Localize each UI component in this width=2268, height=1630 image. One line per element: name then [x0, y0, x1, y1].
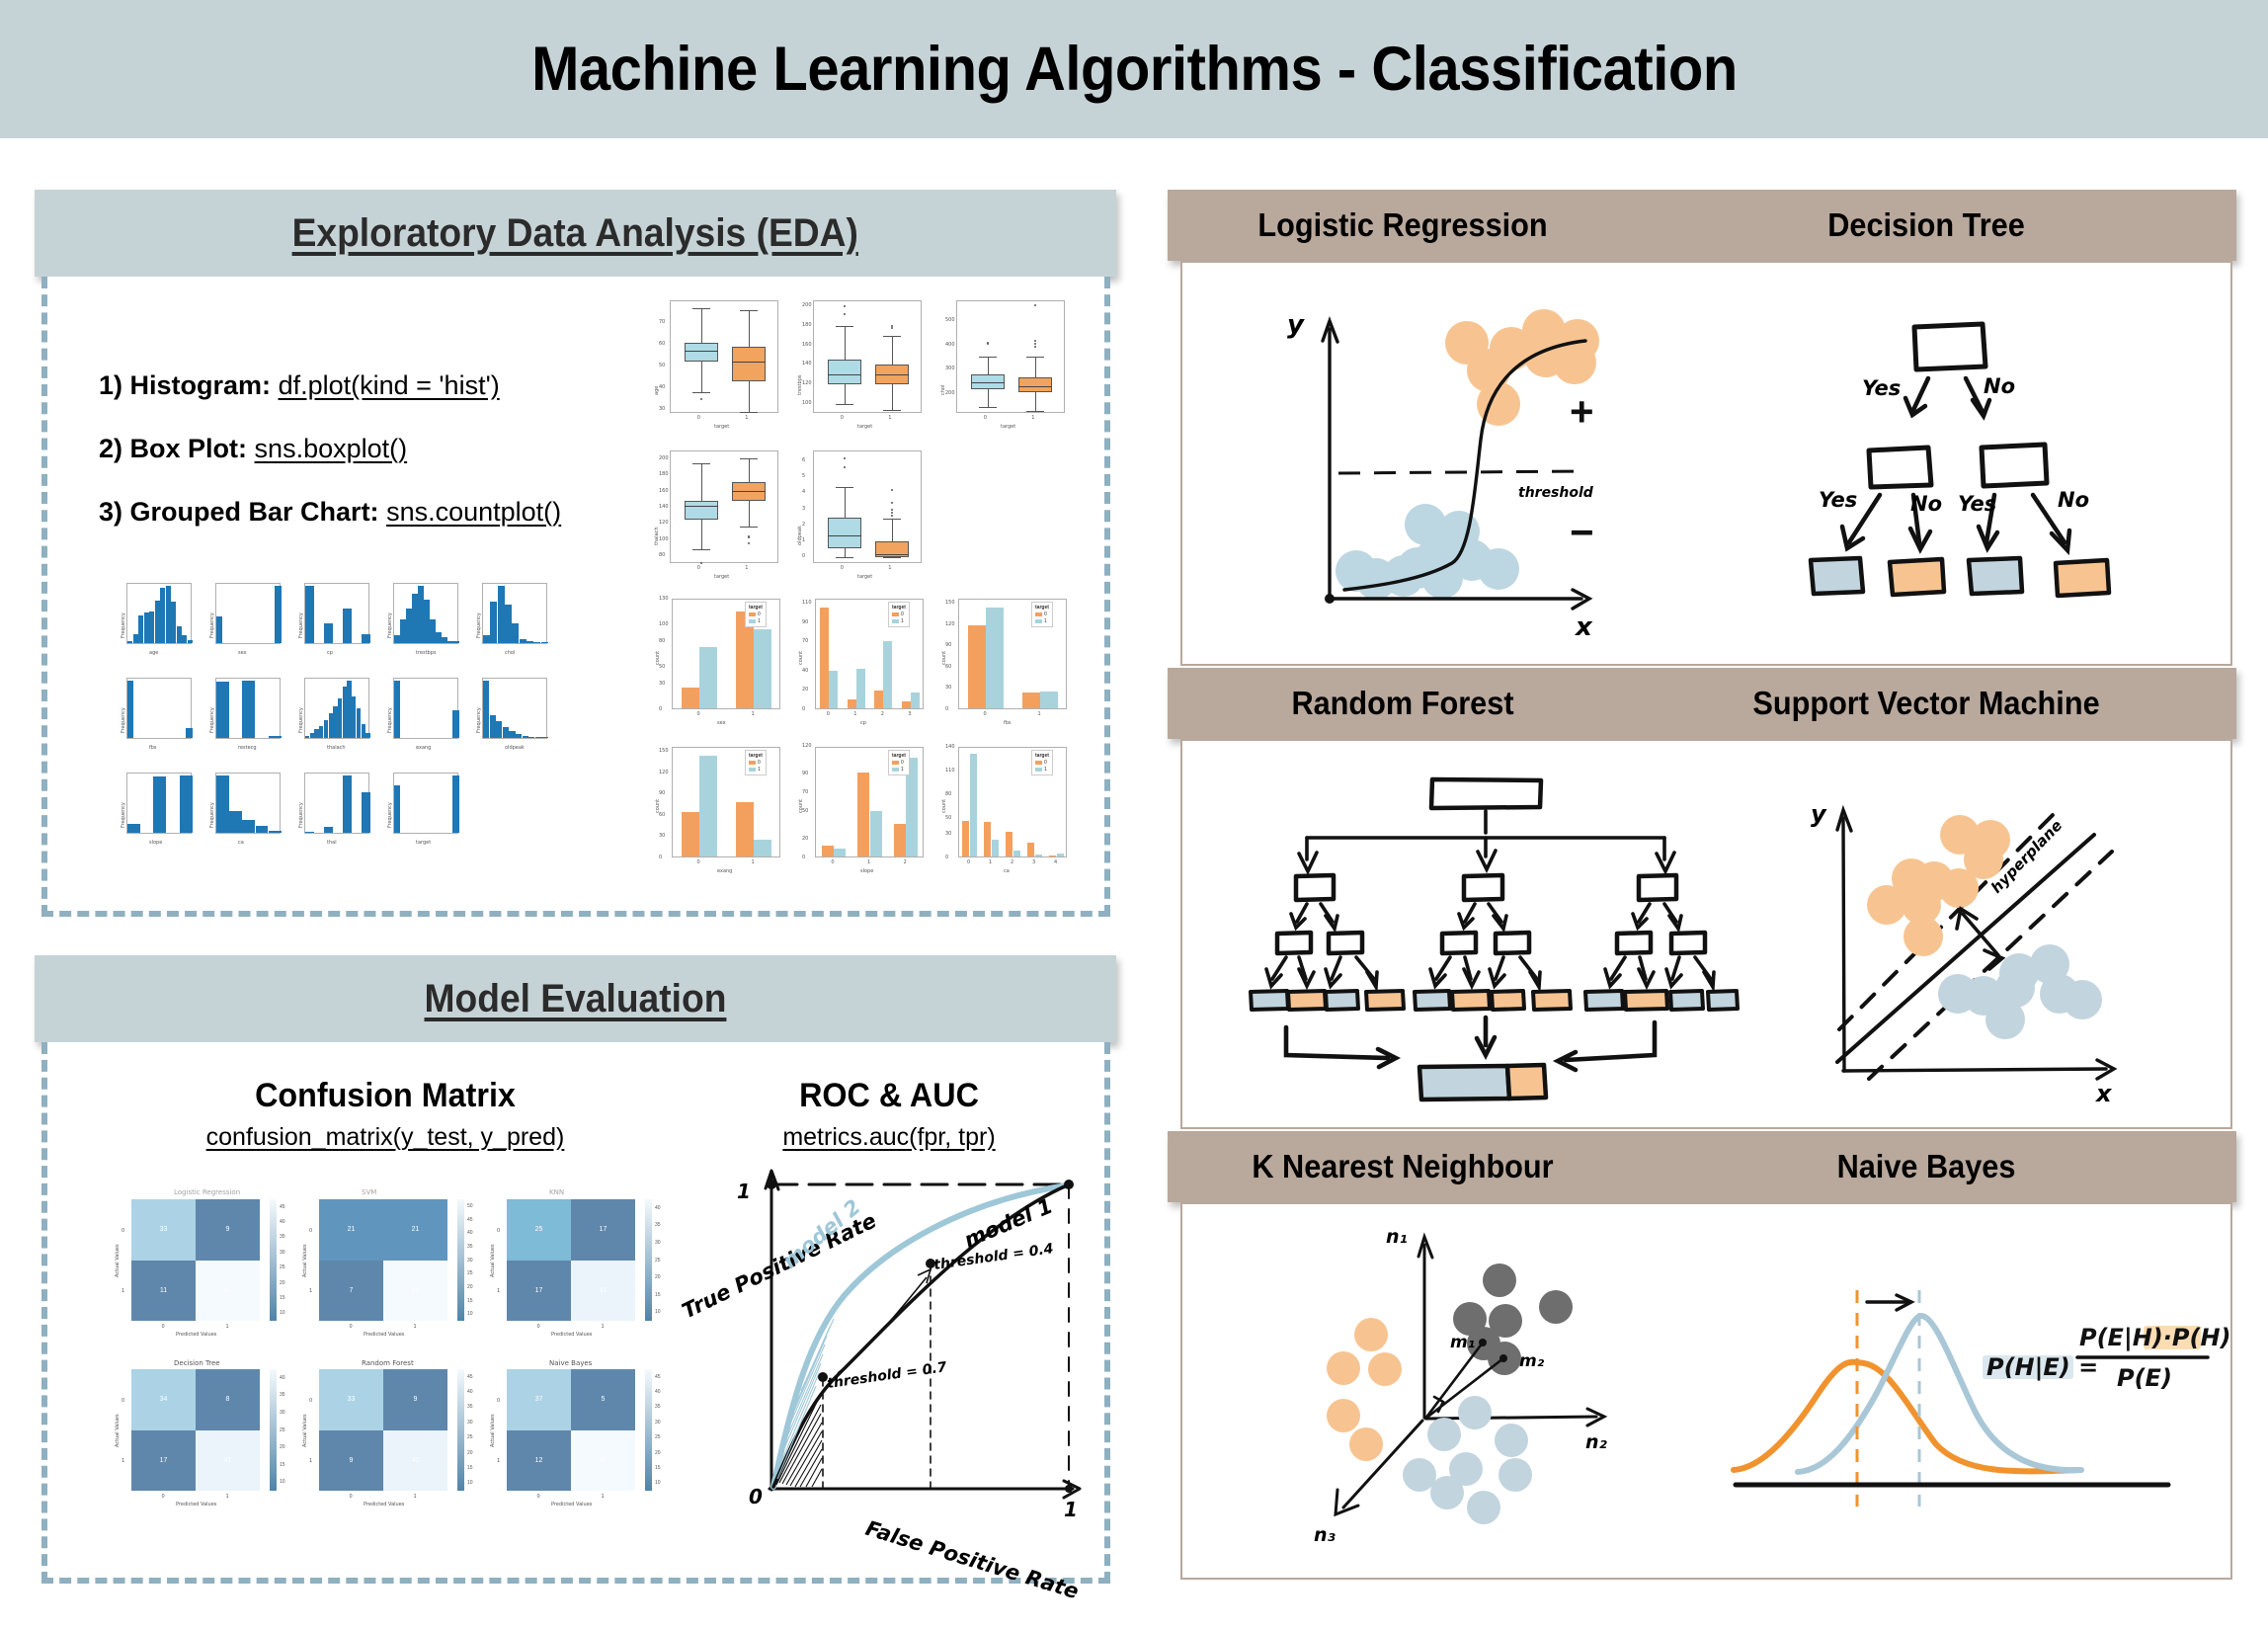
histogram-bar: [310, 733, 314, 738]
boxplot-box: [732, 347, 766, 381]
nb-formula-denominator: P(E): [2117, 1364, 2172, 1392]
confusion-matrix-title: Confusion Matrix: [141, 1077, 629, 1115]
histogram-bar: [160, 588, 165, 643]
eda-item-num: 1): [99, 370, 122, 400]
tree-leaf-3: [1969, 558, 2022, 594]
histogram-bar: [324, 827, 333, 833]
axis-xlabel: ca: [238, 840, 244, 846]
histogram-bar: [520, 639, 526, 644]
countplot-bar: [822, 846, 834, 856]
countplot-bar: [1006, 832, 1012, 856]
axis-ylabel: Frequency: [209, 707, 215, 733]
countplot-bar: [754, 629, 771, 708]
histogram-bar: [523, 736, 528, 738]
countplot-bar: [1057, 854, 1064, 856]
confusion-matrix-title-block: Confusion Matrix confusion_matrix(y_test…: [128, 1077, 642, 1152]
countplot-bar: [970, 754, 977, 856]
roc-auc-code: metrics.auc(fpr, tpr): [682, 1123, 1096, 1152]
axis-ylabel: count: [941, 799, 947, 813]
matrix-cell: 33: [319, 1369, 383, 1430]
histogram-bar: [188, 640, 193, 643]
countplot-bar: [848, 699, 856, 708]
histogram-bar: [528, 737, 534, 738]
axis-xlabel: thal: [327, 840, 337, 846]
boxplot-panel: [956, 300, 1065, 413]
colorbar: [270, 1199, 277, 1321]
histogram-bar: [490, 715, 496, 738]
matrix-cell: 9: [383, 1369, 447, 1430]
histogram-bar: [182, 635, 187, 643]
matrix-cell: 11: [131, 1261, 196, 1322]
histogram-panel: [215, 678, 281, 739]
countplot-bar: [856, 669, 865, 708]
histogram-bar: [269, 831, 282, 833]
histogram-bar: [418, 586, 424, 643]
axis-xlabel: age: [149, 650, 158, 656]
histogram-bar: [452, 775, 458, 833]
histogram-panel: [304, 583, 369, 644]
histogram-panel: [482, 678, 547, 739]
histogram-bar: [171, 602, 176, 643]
confusion-matrix-code: confusion_matrix(y_test, y_pred): [128, 1123, 642, 1152]
list-item: 2) Box Plot: sns.boxplot(): [99, 434, 652, 464]
algorithm-title-svm: Support Vector Machine: [1753, 685, 2100, 722]
svm-x-axis-label: x: [2095, 1080, 2113, 1107]
confusion-matrix: 339940: [319, 1369, 447, 1491]
matrix-cell: 37: [507, 1369, 571, 1430]
axis-ylabel: count: [798, 651, 804, 665]
tree-leaf-2: [1890, 559, 1944, 595]
histogram-bar: [305, 586, 314, 643]
colorbar: [457, 1199, 464, 1321]
histogram-bar: [509, 731, 515, 738]
axis-xlabel: Predicted Values: [364, 1502, 404, 1508]
matrix-cell: 21: [319, 1199, 383, 1261]
histogram-bar: [347, 681, 351, 738]
histogram-bar: [256, 826, 269, 833]
countplot-bar: [968, 625, 986, 708]
algorithms-row3-header: K Nearest Neighbour Naive Bayes: [1168, 1131, 2236, 1202]
histogram-bar: [357, 708, 361, 738]
histogram-bar: [490, 602, 497, 643]
axis-xlabel: cp: [327, 650, 333, 656]
algorithm-title-naive-bayes: Naive Bayes: [1837, 1148, 2016, 1185]
axis-xlabel: exang: [717, 868, 732, 874]
histogram-bar: [496, 721, 502, 738]
countplot-bar: [986, 608, 1004, 708]
roc-auc-title: ROC & AUC: [692, 1077, 1087, 1115]
boxplot-box: [685, 501, 718, 520]
histogram-bar: [229, 811, 242, 833]
histogram-bar: [166, 586, 171, 643]
rf-final-vote-blue: [1419, 1066, 1509, 1100]
histogram-panel: [393, 583, 458, 644]
axis-xlabel: cp: [860, 720, 866, 726]
logreg-y-axis-label: y: [1287, 310, 1305, 340]
histogram-panel: [482, 583, 547, 644]
boxplot-panel: [813, 450, 922, 563]
eda-item-label: Grouped Bar Chart:: [130, 497, 379, 527]
axis-ylabel: Frequency: [298, 802, 304, 828]
eda-item-code: sns.countplot(): [386, 497, 561, 527]
axis-ylabel: Frequency: [298, 612, 304, 638]
matrix-title: Naive Bayes: [549, 1359, 592, 1367]
model-evaluation-label: Model Evaluation: [425, 977, 727, 1021]
histogram-bar: [138, 615, 143, 643]
axis-xlabel: thalach: [327, 745, 346, 751]
axis-ylabel: Frequency: [387, 802, 393, 828]
matrix-cell: 7: [319, 1261, 383, 1322]
roc-x-one-label: 1: [1064, 1498, 1078, 1521]
logreg-threshold-label: threshold: [1518, 485, 1594, 501]
knn-axis-n2-label: n₂: [1585, 1431, 1608, 1453]
histogram-bar: [352, 696, 356, 738]
roc-xlabel: False Positive Rate: [863, 1516, 1082, 1603]
axis-xlabel: target: [714, 574, 729, 580]
axis-xlabel: chol: [505, 650, 515, 656]
axis-ylabel: Actual Values: [115, 1244, 121, 1277]
axis-xlabel: restecg: [238, 745, 257, 751]
boxplot-box: [1018, 377, 1052, 392]
roc-y-one-label: 1: [737, 1180, 751, 1203]
poster-root: Machine Learning Algorithms - Classifica…: [0, 0, 2268, 1630]
eda-histogram-grid: ageFrequencysexFrequencycpFrequencytrest…: [111, 579, 555, 863]
nb-formula-numerator: P(E|H)·P(H): [2079, 1324, 2231, 1351]
logreg-negative-sign: −: [1570, 509, 1594, 555]
matrix-cell: 21: [383, 1199, 447, 1261]
axis-xlabel: Predicted Values: [364, 1332, 404, 1338]
countplot-bar: [1035, 855, 1042, 856]
histogram-bar: [505, 605, 512, 643]
histogram-bar: [526, 641, 533, 643]
histogram-bar: [483, 681, 489, 738]
colorbar: [270, 1369, 277, 1491]
eda-item-label: Box Plot:: [130, 434, 248, 463]
axis-xlabel: target: [714, 424, 729, 430]
knn-axis-n3-label: n₃: [1314, 1524, 1336, 1546]
matrix-title: Logistic Regression: [174, 1188, 240, 1196]
histogram-bar: [412, 594, 418, 643]
axis-ylabel: Frequency: [476, 612, 482, 638]
svm-sketch: y x hyperplane: [1778, 761, 2213, 1116]
countplot-bar: [736, 802, 754, 856]
histogram-bar: [127, 641, 132, 643]
axis-xlabel: exang: [416, 745, 431, 751]
axis-xlabel: Predicted Values: [176, 1332, 216, 1338]
histogram-bar: [333, 706, 337, 738]
tree-edge-no-3: No: [2058, 488, 2089, 512]
histogram-bar: [329, 713, 333, 738]
axis-xlabel: target: [1001, 424, 1015, 430]
matrix-cell: 33: [131, 1199, 196, 1261]
countplot-bar: [699, 756, 717, 856]
histogram-bar: [343, 609, 352, 643]
axis-ylabel: Frequency: [387, 612, 393, 638]
countplot-bar: [883, 641, 892, 708]
histogram-bar: [242, 820, 255, 833]
matrix-cell: 17: [507, 1261, 571, 1322]
histogram-panel: [304, 678, 369, 739]
histogram-bar: [406, 609, 412, 643]
knn-axis-n1-label: n₁: [1386, 1226, 1408, 1248]
countplot-bar: [699, 647, 717, 708]
histogram-bar: [483, 635, 490, 643]
axis-ylabel: Actual Values: [490, 1414, 496, 1447]
legend: target01: [1031, 602, 1053, 627]
confusion-matrix: 3481741: [131, 1369, 260, 1491]
histogram-bar: [394, 635, 400, 643]
histogram-bar: [177, 626, 182, 643]
matrix-cell: 41: [196, 1430, 260, 1492]
svm-y-axis-label: y: [1811, 800, 1827, 828]
matrix-cell: 46: [571, 1430, 635, 1492]
countplot-bar: [1013, 851, 1020, 856]
histogram-bar: [362, 634, 370, 643]
countplot-bar: [962, 821, 969, 856]
axis-ylabel: Frequency: [387, 707, 393, 733]
histogram-bar: [133, 634, 138, 643]
countplot-bar: [754, 840, 771, 856]
histogram-bar: [127, 681, 133, 738]
axis-xlabel: sex: [717, 720, 726, 726]
histogram-bar: [452, 710, 458, 738]
axis-ylabel: Frequency: [121, 612, 126, 638]
legend: target01: [745, 602, 767, 627]
eda-item-num: 3): [99, 497, 122, 527]
legend: target01: [888, 602, 910, 627]
eda-boxplot-grid: target01age3040506070target01trestbps100…: [644, 296, 1069, 593]
axis-ylabel: Actual Values: [302, 1414, 308, 1447]
logistic-regression-sketch: y x threshold + −: [1230, 291, 1645, 657]
algorithm-title-knn: K Nearest Neighbour: [1252, 1148, 1553, 1185]
model-evaluation-header: Model Evaluation: [35, 955, 1116, 1042]
eda-item-code: df.plot(kind = 'hist'): [279, 370, 500, 400]
histogram-bar: [269, 736, 282, 738]
eda-item-code: sns.boxplot(): [255, 434, 408, 463]
algorithm-title-decision-tree: Decision Tree: [1827, 206, 2025, 244]
roc-threshold-04-label: threshold = 0.4: [932, 1241, 1054, 1273]
algorithm-title-logistic-regression: Logistic Regression: [1257, 206, 1547, 244]
rf-final-vote-orange: [1507, 1065, 1546, 1099]
boxplot-panel: [670, 300, 778, 413]
axis-xlabel: fbs: [1004, 720, 1012, 726]
countplot-bar: [911, 693, 920, 708]
histogram-panel: [393, 773, 458, 834]
histogram-bar: [216, 775, 229, 833]
logreg-positive-sign: +: [1570, 388, 1594, 435]
matrix-cell: 41: [571, 1261, 635, 1322]
axis-ylabel: Frequency: [121, 707, 126, 733]
histogram-panel: [126, 583, 192, 644]
matrix-title: SVM: [362, 1188, 376, 1196]
histogram-bar: [447, 641, 453, 643]
countplot-bar: [1022, 693, 1040, 708]
histogram-bar: [362, 792, 370, 833]
histogram-panel: [126, 678, 192, 739]
axis-xlabel: oldpeak: [505, 745, 525, 751]
matrix-cell: 25: [507, 1199, 571, 1261]
histogram-bar: [516, 734, 522, 738]
matrix-cell: 51: [383, 1261, 447, 1322]
histogram-bar: [394, 681, 400, 738]
axis-xlabel: slope: [149, 840, 162, 846]
poster-title-banner: Machine Learning Algorithms - Classifica…: [0, 0, 2268, 138]
histogram-bar: [242, 681, 255, 738]
histogram-bar: [436, 632, 442, 643]
eda-method-list: 1) Histogram: df.plot(kind = 'hist') 2) …: [99, 370, 652, 560]
histogram-bar: [365, 733, 369, 738]
legend: target01: [745, 750, 767, 775]
tree-edge-no-2: No: [1910, 492, 1942, 516]
matrix-cell: 40: [383, 1430, 447, 1492]
axis-ylabel: Frequency: [121, 802, 126, 828]
countplot-bar: [894, 824, 906, 856]
list-item: 1) Histogram: df.plot(kind = 'hist'): [99, 370, 652, 401]
countplot-bar: [992, 840, 999, 856]
countplot-bar: [1049, 856, 1056, 856]
eda-section-header: Exploratory Data Analysis (EDA): [35, 190, 1116, 277]
algorithms-row1-header: Logistic Regression Decision Tree: [1168, 190, 2236, 261]
axis-xlabel: sex: [238, 650, 247, 656]
axis-ylabel: Actual Values: [115, 1414, 121, 1447]
axis-xlabel: target: [857, 424, 872, 430]
histogram-bar: [305, 832, 314, 833]
histogram-bar: [155, 601, 160, 643]
histogram-bar: [503, 727, 509, 738]
histogram-bar: [430, 619, 436, 643]
boxplot-box: [828, 518, 861, 548]
boxplot-panel: [813, 300, 922, 413]
confusion-matrix: 3751246: [507, 1369, 635, 1491]
histogram-bar: [442, 637, 447, 643]
roc-threshold-07-label: threshold = 0.7: [826, 1359, 947, 1392]
logreg-x-axis-label: x: [1574, 612, 1593, 642]
matrix-cell: 12: [507, 1430, 571, 1492]
histogram-bar: [275, 586, 281, 643]
histogram-bar: [362, 724, 365, 738]
histogram-panel: [304, 773, 369, 834]
eda-header-label: Exploratory Data Analysis (EDA): [292, 211, 858, 256]
histogram-bar: [343, 775, 352, 833]
histogram-bar: [153, 776, 166, 833]
roc-origin-label: 0: [749, 1485, 763, 1508]
countplot-bar: [984, 822, 991, 856]
confusion-matrix: 2121751: [319, 1199, 447, 1321]
algorithms-row2-header: Random Forest Support Vector Machine: [1168, 668, 2236, 739]
countplot-bar: [1040, 692, 1058, 708]
matrix-title: Random Forest: [362, 1359, 414, 1367]
confusion-matrix: 3391147: [131, 1199, 260, 1321]
histogram-bar: [324, 720, 328, 738]
histogram-bar: [319, 726, 323, 738]
tree-edge-yes-3: Yes: [1958, 492, 1996, 516]
histogram-bar: [512, 623, 519, 643]
axis-ylabel: Actual Values: [302, 1244, 308, 1277]
axis-xlabel: fbs: [149, 745, 157, 751]
countplot-bar: [682, 688, 699, 708]
histogram-bar: [216, 616, 222, 643]
matrix-cell: 9: [196, 1199, 260, 1261]
histogram-bar: [541, 737, 547, 738]
axis-xlabel: Predicted Values: [551, 1332, 592, 1338]
list-item: 3) Grouped Bar Chart: sns.countplot(): [99, 497, 652, 528]
histogram-bar: [338, 698, 342, 738]
page-title: Machine Learning Algorithms - Classifica…: [531, 34, 1738, 105]
histogram-bar: [453, 641, 459, 643]
countplot-bar: [834, 849, 846, 856]
axis-xlabel: trestbps: [416, 650, 437, 656]
matrix-cell: 5: [571, 1369, 635, 1430]
colorbar: [457, 1369, 464, 1491]
rf-root-node: [1431, 779, 1541, 808]
matrix-cell: 9: [319, 1430, 383, 1492]
histogram-bar: [216, 682, 229, 738]
random-forest-sketch: [1230, 766, 1743, 1131]
histogram-bar: [305, 736, 309, 738]
eda-countplot-grid: 01sexcount0305080100130target010123cpcou…: [644, 595, 1069, 889]
algorithm-title-random-forest: Random Forest: [1291, 685, 1513, 722]
histogram-bar: [343, 687, 347, 738]
axis-ylabel: Frequency: [209, 612, 215, 638]
knn-point-m2-label: m₂: [1519, 1351, 1545, 1371]
histogram-bar: [314, 729, 318, 738]
histogram-bar: [498, 586, 505, 643]
histogram-bar: [541, 642, 548, 643]
histogram-bar: [324, 623, 333, 643]
histogram-bar: [394, 785, 400, 834]
countplot-bar: [820, 608, 829, 708]
histogram-bar: [144, 612, 149, 643]
matrix-cell: 34: [131, 1369, 196, 1430]
axis-ylabel: Frequency: [298, 707, 304, 733]
confusion-matrix-grid: 339114710152025303540450101Actual Values…: [104, 1185, 657, 1521]
histogram-panel: [126, 773, 192, 834]
axis-xlabel: ca: [1004, 868, 1010, 874]
matrix-cell: 8: [196, 1369, 260, 1430]
matrix-title: Decision Tree: [174, 1359, 220, 1367]
histogram-bar: [533, 642, 540, 643]
countplot-bar: [829, 671, 838, 708]
axis-ylabel: Actual Values: [490, 1244, 496, 1277]
naive-bayes-sketch: P(H|E) = P(E|H)·P(H) P(E): [1724, 1235, 2227, 1531]
tree-edge-no-1: No: [1984, 374, 2015, 398]
tree-edge-yes-1: Yes: [1862, 376, 1901, 400]
boxplot-box: [685, 343, 718, 363]
histogram-panel: [393, 678, 458, 739]
decision-tree-sketch: Yes No Yes No Yes No: [1778, 291, 2193, 657]
axis-xlabel: Predicted Values: [551, 1502, 592, 1508]
matrix-title: KNN: [549, 1188, 564, 1196]
countplot-bar: [682, 812, 699, 856]
countplot-bar: [902, 701, 911, 708]
matrix-cell: 17: [571, 1199, 635, 1261]
boxplot-box: [828, 360, 861, 384]
legend: target01: [1031, 750, 1053, 775]
tree-leaf-4: [2056, 560, 2109, 596]
axis-ylabel: Frequency: [476, 707, 482, 733]
histogram-bar: [400, 619, 406, 643]
histogram-panel: [215, 583, 281, 644]
tree-edge-yes-2: Yes: [1819, 488, 1857, 512]
axis-xlabel: target: [857, 574, 872, 580]
countplot-bar: [870, 811, 882, 856]
axis-xlabel: target: [416, 840, 431, 846]
histogram-bar: [424, 600, 430, 643]
eda-item-num: 2): [99, 434, 122, 463]
histogram-bar: [149, 611, 154, 643]
matrix-cell: 17: [131, 1430, 196, 1492]
tree-root-node: [1914, 324, 1985, 369]
